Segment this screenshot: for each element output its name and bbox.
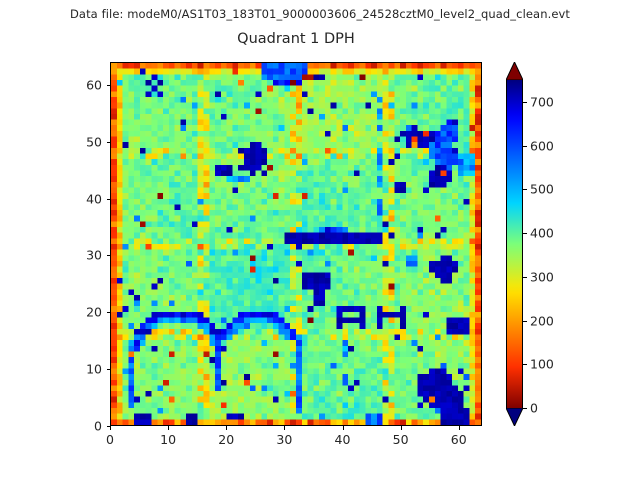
x-tick-mark: [284, 426, 285, 430]
x-tick-label: 20: [218, 432, 234, 447]
colorbar-tick-mark: [523, 233, 527, 234]
colorbar-gradient-body: [506, 80, 523, 408]
heatmap-image: [111, 63, 481, 425]
colorbar-extend-bottom-icon: [506, 408, 523, 426]
x-tick-mark: [168, 426, 169, 430]
x-tick-mark: [110, 426, 111, 430]
y-tick-label: 60: [86, 77, 102, 92]
y-tick-mark: [107, 312, 111, 313]
colorbar-tick-label: 100: [530, 357, 554, 372]
colorbar-tick-label: 700: [530, 94, 554, 109]
x-tick-mark: [401, 426, 402, 430]
heatmap-axes: [110, 62, 482, 426]
colorbar: [506, 62, 523, 426]
x-tick-mark: [459, 426, 460, 430]
colorbar-tick-mark: [523, 321, 527, 322]
y-tick-mark: [107, 199, 111, 200]
colorbar-tick-label: 500: [530, 182, 554, 197]
x-tick-label: 40: [335, 432, 351, 447]
colorbar-gradient: [507, 80, 522, 408]
y-tick-label: 10: [86, 362, 102, 377]
colorbar-extend-top-icon: [506, 62, 523, 80]
colorbar-tick-label: 400: [530, 226, 554, 241]
x-tick-mark: [226, 426, 227, 430]
y-tick-label: 0: [94, 419, 102, 434]
colorbar-tick-label: 600: [530, 138, 554, 153]
figure-canvas: Data file: modeM0/AS1T03_183T01_90000036…: [0, 0, 640, 480]
y-tick-mark: [107, 85, 111, 86]
x-tick-mark: [343, 426, 344, 430]
colorbar-tick-label: 0: [530, 401, 538, 416]
colorbar-tick-mark: [523, 102, 527, 103]
y-tick-label: 30: [86, 248, 102, 263]
colorbar-tick-mark: [523, 364, 527, 365]
x-tick-label: 30: [276, 432, 292, 447]
axes-title: Quadrant 1 DPH: [110, 31, 482, 47]
y-tick-mark: [107, 369, 111, 370]
y-tick-label: 40: [86, 191, 102, 206]
y-tick-label: 20: [86, 305, 102, 320]
x-tick-label: 60: [451, 432, 467, 447]
y-tick-mark: [107, 142, 111, 143]
colorbar-tick-mark: [523, 189, 527, 190]
colorbar-tick-mark: [523, 146, 527, 147]
y-tick-mark: [107, 426, 111, 427]
y-tick-label: 50: [86, 134, 102, 149]
colorbar-tick-mark: [523, 408, 527, 409]
x-tick-label: 10: [160, 432, 176, 447]
x-tick-label: 50: [393, 432, 409, 447]
colorbar-tick-mark: [523, 277, 527, 278]
figure-suptitle: Data file: modeM0/AS1T03_183T01_90000036…: [0, 7, 640, 21]
y-tick-mark: [107, 255, 111, 256]
x-tick-label: 0: [106, 432, 114, 447]
colorbar-tick-label: 200: [530, 313, 554, 328]
colorbar-tick-label: 300: [530, 269, 554, 284]
